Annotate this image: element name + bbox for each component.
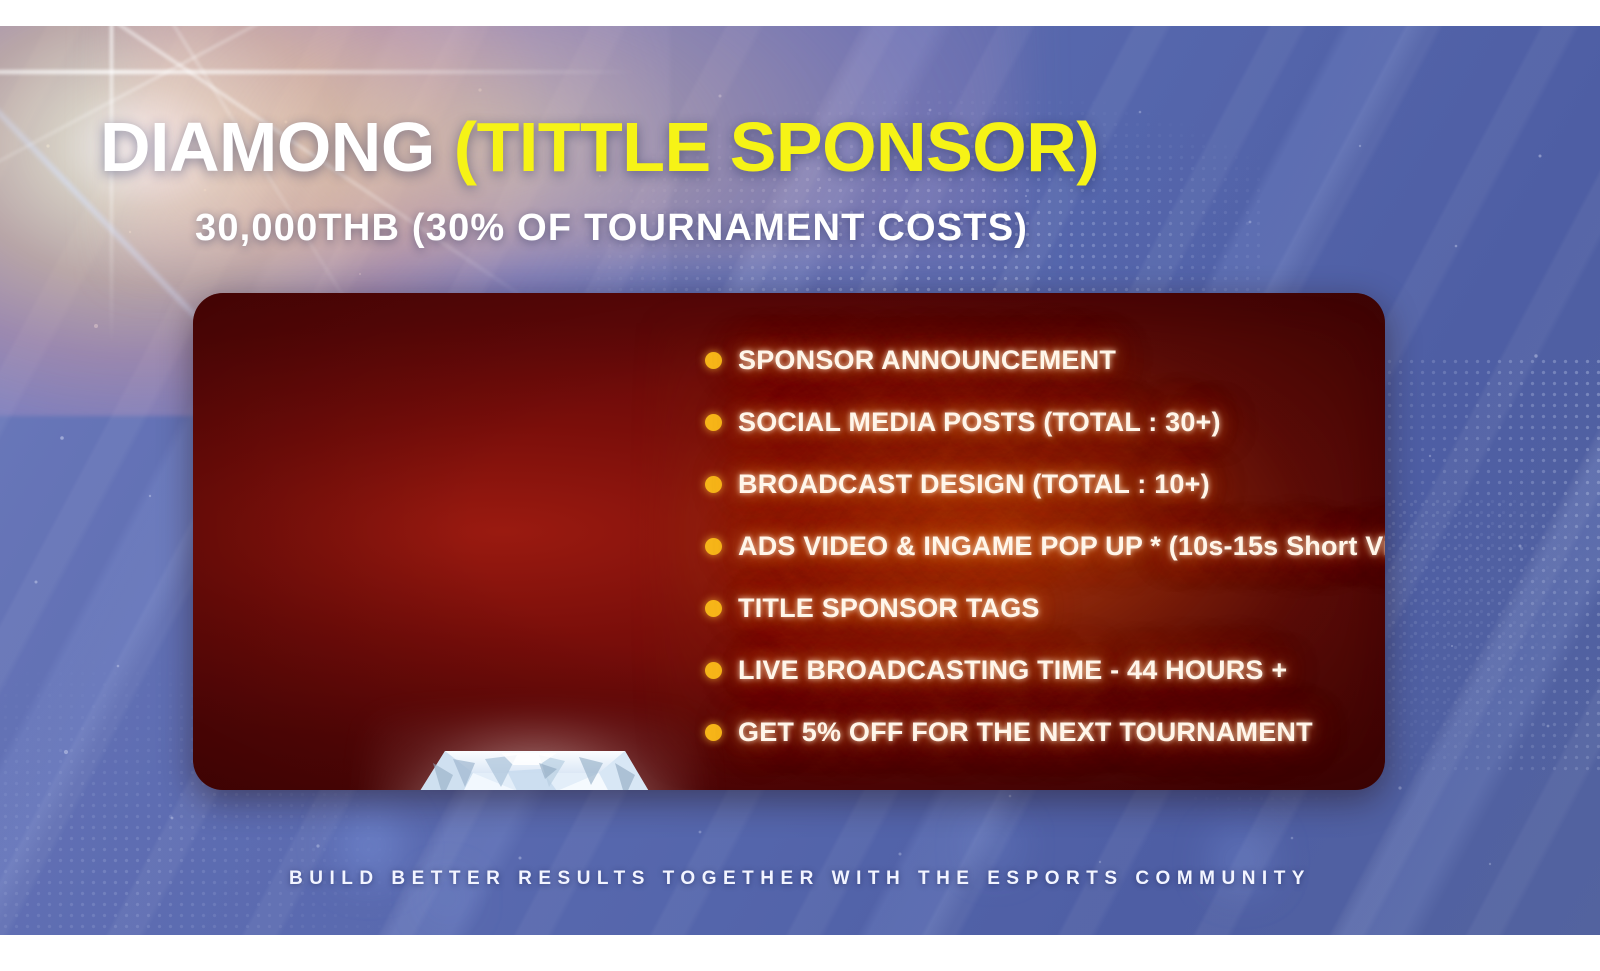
benefit-item: SPONSOR ANNOUNCEMENT [705,329,1365,391]
benefit-label: TITLE SPONSOR TAGS [738,593,1040,624]
benefit-label: ADS VIDEO & INGAME POP UP * (10s-15s Sho… [738,531,1385,562]
benefit-item: GET 5% OFF FOR THE NEXT TOURNAMENT [705,701,1365,763]
bullet-dot-icon [705,352,722,369]
benefit-label: LIVE BROADCASTING TIME - 44 HOURS + [738,655,1287,686]
bullet-dot-icon [705,600,722,617]
bullet-dot-icon [705,538,722,555]
flare-ray-horizontal [0,70,640,74]
benefits-card: SPONSOR ANNOUNCEMENT SOCIAL MEDIA POSTS … [193,293,1385,790]
benefit-label: SPONSOR ANNOUNCEMENT [738,345,1116,376]
benefit-item: BROADCAST DESIGN (TOTAL : 10+) [705,453,1365,515]
benefit-label: SOCIAL MEDIA POSTS (TOTAL : 30+) [738,407,1221,438]
benefit-label: BROADCAST DESIGN (TOTAL : 10+) [738,469,1210,500]
bokeh-blob-3 [975,826,1015,866]
benefits-list: SPONSOR ANNOUNCEMENT SOCIAL MEDIA POSTS … [705,329,1365,763]
benefit-item: TITLE SPONSOR TAGS [705,577,1365,639]
letterbox-bottom [0,935,1600,971]
page-title: DIAMONG (TITTLE SPONSOR) [100,112,1099,182]
title-tier-name: DIAMONG [100,108,435,186]
bullet-dot-icon [705,476,722,493]
bullet-dot-icon [705,724,722,741]
diamond-gem-illustration [389,729,679,790]
price-subtitle: 30,000THB (30% OF TOURNAMENT COSTS) [195,207,1028,250]
benefit-label: GET 5% OFF FOR THE NEXT TOURNAMENT [738,717,1313,748]
bokeh-blob-1 [340,816,400,876]
letterbox-top [0,0,1600,26]
footer-tagline: BUILD BETTER RESULTS TOGETHER WITH THE E… [0,868,1600,890]
bullet-dot-icon [705,414,722,431]
benefit-item: ADS VIDEO & INGAME POP UP * (10s-15s Sho… [705,515,1365,577]
benefit-item: LIVE BROADCASTING TIME - 44 HOURS + [705,639,1365,701]
title-sponsor-qualifier: (TITTLE SPONSOR) [454,108,1099,186]
diamond-gem-icon [389,729,679,790]
flare-ray-vertical [110,26,113,346]
bullet-dot-icon [705,662,722,679]
benefit-item: SOCIAL MEDIA POSTS (TOTAL : 30+) [705,391,1365,453]
sponsor-tier-slide: DIAMONG (TITTLE SPONSOR) 30,000THB (30% … [0,0,1600,971]
